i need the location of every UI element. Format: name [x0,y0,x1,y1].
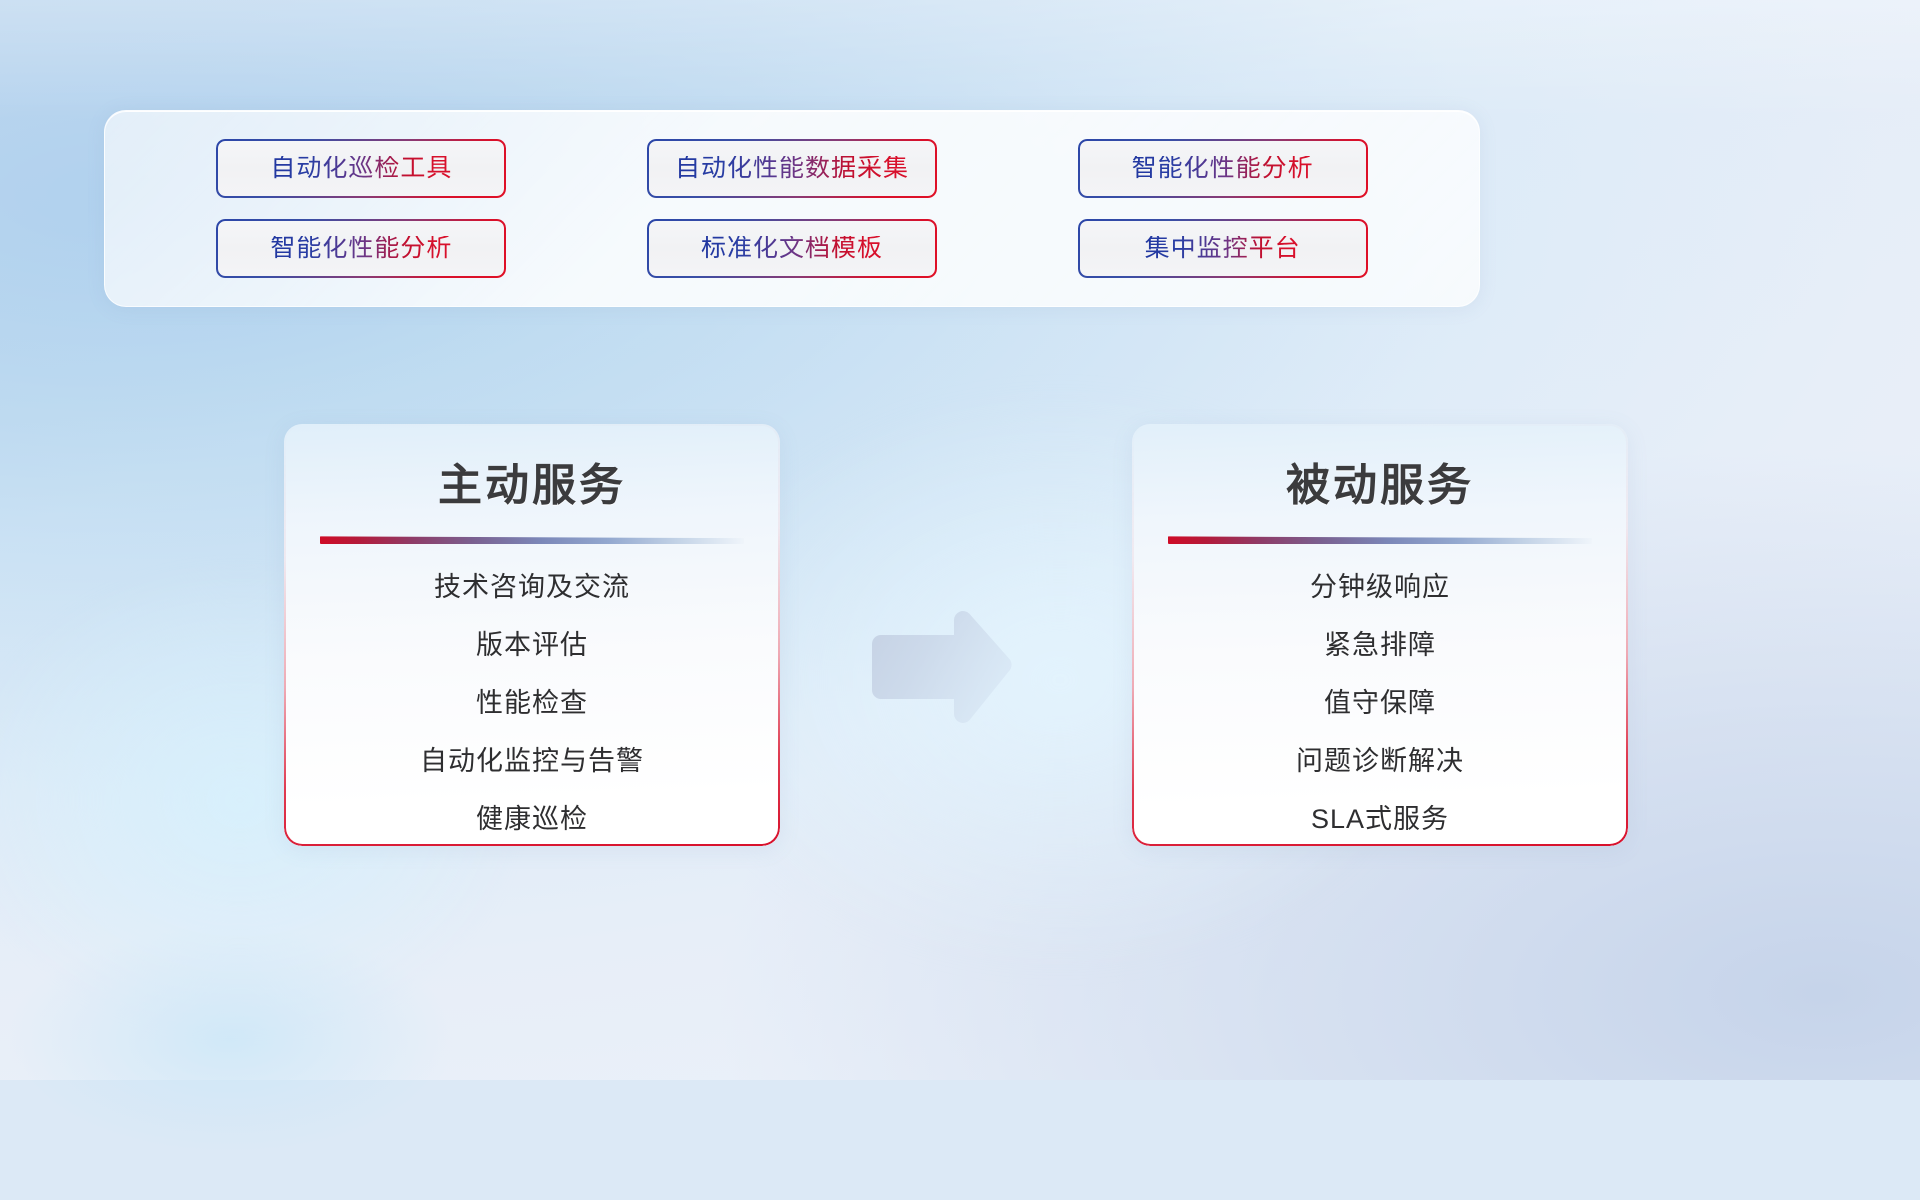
capability-tag-label: 集中监控平台 [1145,236,1301,261]
capability-tag-label: 智能化性能分析 [270,236,452,261]
list-item: 版本评估 [284,632,780,659]
capability-panel: 自动化巡检工具 自动化性能数据采集 智能化性能分析 智能化性能分析 标准化文档模… [104,110,1480,307]
list-item: 分钟级响应 [1132,574,1628,601]
capability-tag-label: 标准化文档模板 [701,236,883,261]
capability-tag-1[interactable]: 自动化巡检工具 [216,139,506,198]
list-item: 值守保障 [1132,690,1628,717]
capability-tag-3[interactable]: 智能化性能分析 [1078,139,1368,198]
card-title: 被动服务 [1132,462,1628,510]
card-title-divider [320,536,744,544]
list-item: 健康巡检 [284,806,780,833]
card-title: 主动服务 [284,462,780,510]
list-item: 自动化监控与告警 [284,748,780,775]
card-title-divider [1168,536,1592,544]
list-item: 性能检查 [284,690,780,717]
service-card-proactive: 主动服务 技术咨询及交流 版本评估 性能检查 自动化监控与告警 健康巡检 [284,424,780,846]
capability-tag-4[interactable]: 智能化性能分析 [216,219,506,278]
arrow-right-icon [868,608,1018,726]
service-item-list: 技术咨询及交流 版本评估 性能检查 自动化监控与告警 健康巡检 [284,574,780,833]
capability-tag-5[interactable]: 标准化文档模板 [647,219,937,278]
capability-tag-2[interactable]: 自动化性能数据采集 [647,139,937,198]
service-item-list: 分钟级响应 紧急排障 值守保障 问题诊断解决 SLA式服务 [1132,574,1628,833]
capability-tag-label: 智能化性能分析 [1132,156,1314,181]
capability-tag-label: 自动化巡检工具 [270,156,452,181]
capability-tag-6[interactable]: 集中监控平台 [1078,219,1368,278]
capability-tag-label: 自动化性能数据采集 [675,156,909,181]
background-sheen-top [0,0,1920,120]
list-item: SLA式服务 [1132,806,1628,833]
list-item: 紧急排障 [1132,632,1628,659]
list-item: 技术咨询及交流 [284,574,780,601]
background-glow-bottom-left [0,880,540,1200]
list-item: 问题诊断解决 [1132,748,1628,775]
service-card-reactive: 被动服务 分钟级响应 紧急排障 值守保障 问题诊断解决 SLA式服务 [1132,424,1628,846]
